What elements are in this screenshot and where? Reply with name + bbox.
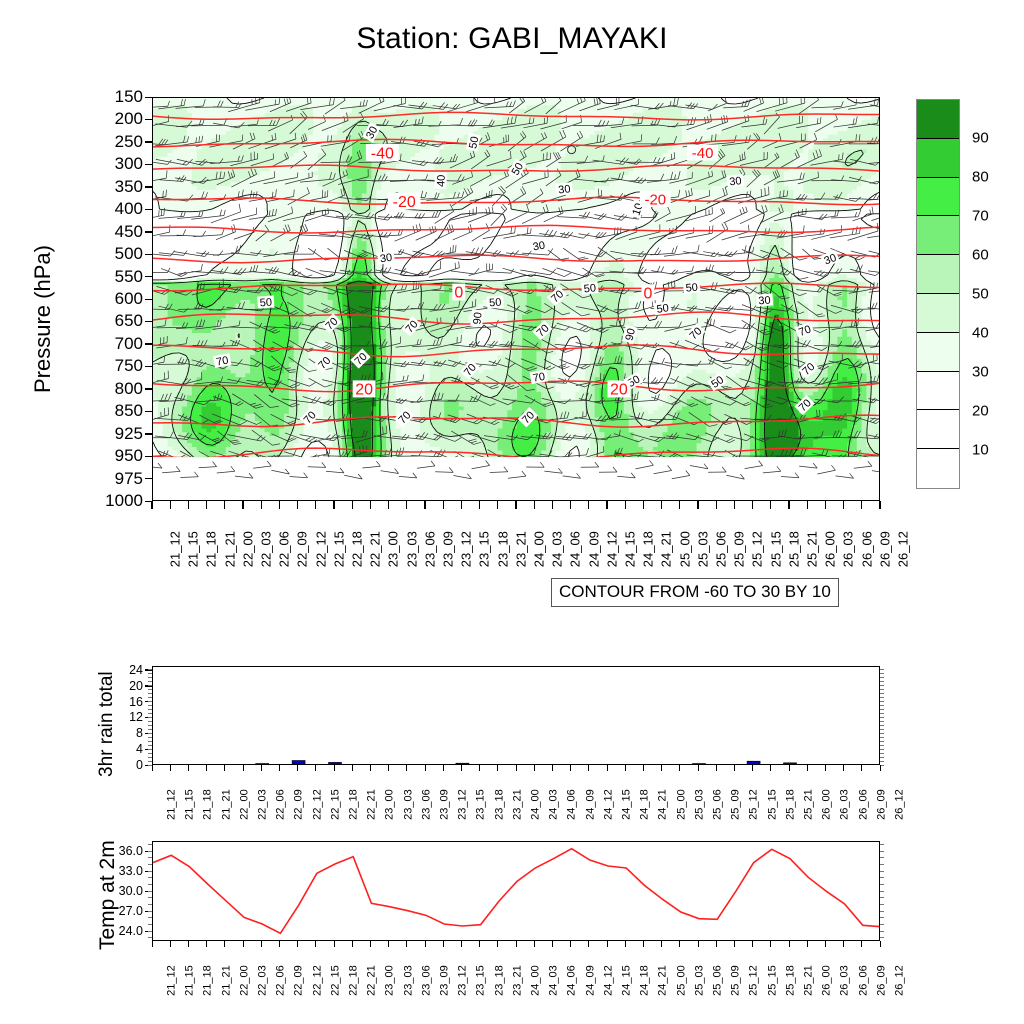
colorbar-tick-label: 30 xyxy=(972,364,989,381)
x-tick-label: 26_12 xyxy=(893,965,905,996)
x-tick xyxy=(807,941,808,947)
x-tick xyxy=(679,941,680,947)
x-tick xyxy=(243,941,244,947)
y-minor-tick xyxy=(148,937,152,938)
y-tick-label: 24.0 xyxy=(83,924,143,938)
profile-plot-area: 3050504030301030303050505050307050707090… xyxy=(153,98,879,500)
x-tick-label: 26_09 xyxy=(875,965,887,996)
x-tick xyxy=(552,765,553,771)
x-tick xyxy=(151,501,152,509)
y-minor-tick xyxy=(148,857,152,858)
x-tick-label: 22_18 xyxy=(347,789,359,820)
y-tick-label: 16 xyxy=(83,695,143,709)
x-tick-label: 23_03 xyxy=(402,789,414,820)
x-tick xyxy=(206,501,207,509)
x-tick-label: 24_21 xyxy=(659,531,674,567)
y-tick-label: 250 xyxy=(53,132,143,152)
x-tick-label: 24_03 xyxy=(547,965,559,996)
y-minor-tick xyxy=(880,897,884,898)
x-tick-label: 23_09 xyxy=(438,965,450,996)
x-tick xyxy=(679,765,680,771)
x-tick xyxy=(261,765,262,771)
x-tick-label: 21_21 xyxy=(222,531,237,567)
y-tick-label: 1000 xyxy=(53,491,143,511)
y-minor-tick xyxy=(880,721,884,722)
x-tick-label: 25_18 xyxy=(784,789,796,820)
x-tick-label: 22_06 xyxy=(274,789,286,820)
x-tick-label: 22_00 xyxy=(238,965,250,996)
x-tick xyxy=(807,765,808,771)
x-tick-label: 25_03 xyxy=(693,789,705,820)
x-tick xyxy=(825,501,826,509)
x-tick-label: 25_09 xyxy=(729,965,741,996)
x-tick xyxy=(880,765,881,771)
x-tick-label: 24_15 xyxy=(620,789,632,820)
x-tick xyxy=(443,941,444,947)
x-tick-label: 26_06 xyxy=(857,789,869,820)
x-tick xyxy=(497,765,498,771)
y-tick-label: 300 xyxy=(53,154,143,174)
x-tick xyxy=(516,765,517,771)
x-tick xyxy=(607,941,608,947)
x-tick-label: 21_15 xyxy=(186,531,201,567)
y-minor-tick xyxy=(148,891,152,892)
y-tick xyxy=(145,164,152,165)
x-tick xyxy=(152,941,153,947)
x-tick xyxy=(425,765,426,771)
x-tick xyxy=(716,941,717,947)
x-tick-label: 24_15 xyxy=(620,965,632,996)
y-minor-tick xyxy=(148,871,152,872)
x-tick xyxy=(734,941,735,947)
x-tick-label: 26_00 xyxy=(820,965,832,996)
x-tick xyxy=(279,941,280,947)
x-tick xyxy=(352,765,353,771)
y-tick xyxy=(145,433,152,434)
x-tick xyxy=(625,765,626,771)
x-tick-label: 22_06 xyxy=(277,531,292,567)
x-tick xyxy=(297,501,298,509)
x-tick xyxy=(643,941,644,947)
x-tick-label: 25_09 xyxy=(732,531,747,567)
x-tick-label: 22_15 xyxy=(329,965,341,996)
x-tick xyxy=(570,765,571,771)
y-tick xyxy=(145,478,152,479)
x-tick xyxy=(788,501,789,509)
x-tick-label: 24_09 xyxy=(584,789,596,820)
colorbar-band xyxy=(917,100,959,139)
y-minor-tick xyxy=(148,701,152,702)
colorbar-tick-label: 60 xyxy=(972,247,989,264)
y-tick xyxy=(145,254,152,255)
y-tick-label: 200 xyxy=(53,109,143,129)
y-minor-tick xyxy=(880,693,884,694)
x-tick-label: 25_15 xyxy=(768,531,783,567)
y-tick-label: 30.0 xyxy=(83,884,143,898)
x-tick xyxy=(825,765,826,771)
x-tick-label: 23_00 xyxy=(384,965,396,996)
y-tick-label: 600 xyxy=(53,289,143,309)
x-tick xyxy=(861,501,862,509)
x-tick-label: 22_03 xyxy=(256,789,268,820)
temp-plot-area xyxy=(153,842,879,940)
x-tick xyxy=(570,941,571,947)
y-tick-label: 20 xyxy=(83,679,143,693)
y-minor-tick xyxy=(880,757,884,758)
x-tick xyxy=(497,941,498,947)
x-tick xyxy=(734,765,735,771)
x-tick xyxy=(534,941,535,947)
x-tick-label: 23_03 xyxy=(404,531,419,567)
x-tick xyxy=(479,501,480,509)
x-tick-label: 22_21 xyxy=(365,965,377,996)
x-tick-label: 26_09 xyxy=(875,789,887,820)
x-tick-label: 22_06 xyxy=(274,965,286,996)
x-tick-label: 25_00 xyxy=(675,789,687,820)
x-tick xyxy=(425,941,426,947)
x-tick xyxy=(352,501,353,509)
y-minor-tick xyxy=(880,904,884,905)
x-tick-label: 23_03 xyxy=(402,965,414,996)
x-tick-label: 26_00 xyxy=(823,531,838,567)
x-tick xyxy=(843,765,844,771)
x-tick-label: 22_12 xyxy=(311,789,323,820)
x-tick xyxy=(334,765,335,771)
x-tick-label: 21_12 xyxy=(165,789,177,820)
x-tick-label: 26_09 xyxy=(877,531,892,567)
colorbar[interactable] xyxy=(916,99,960,489)
x-tick-label: 24_12 xyxy=(602,789,614,820)
y-tick xyxy=(145,141,152,142)
x-tick-label: 23_06 xyxy=(420,965,432,996)
x-tick xyxy=(643,765,644,771)
y-tick-label: 650 xyxy=(53,311,143,331)
x-tick-label: 21_21 xyxy=(220,789,232,820)
y-minor-tick xyxy=(880,697,884,698)
x-tick-label: 22_18 xyxy=(350,531,365,567)
y-minor-tick xyxy=(148,749,152,750)
colorbar-tick-label: 50 xyxy=(972,286,989,303)
colorbar-tick-label: 70 xyxy=(972,208,989,225)
y-minor-tick xyxy=(880,733,884,734)
x-tick xyxy=(315,941,316,947)
x-tick xyxy=(661,941,662,947)
x-tick-label: 24_06 xyxy=(566,789,578,820)
y-tick xyxy=(145,186,152,187)
y-tick-label: 12 xyxy=(83,710,143,724)
y-minor-tick xyxy=(148,733,152,734)
x-tick-label: 21_12 xyxy=(165,965,177,996)
x-tick-label: 22_03 xyxy=(256,965,268,996)
x-tick-label: 26_03 xyxy=(839,965,851,996)
y-tick-label: 700 xyxy=(53,334,143,354)
x-tick xyxy=(588,941,589,947)
y-minor-tick xyxy=(148,741,152,742)
x-tick-label: 25_21 xyxy=(805,531,820,567)
x-tick-label: 22_21 xyxy=(365,789,377,820)
x-tick-label: 23_06 xyxy=(420,789,432,820)
y-minor-tick xyxy=(148,884,152,885)
x-tick-label: 26_06 xyxy=(857,965,869,996)
x-tick-label: 21_15 xyxy=(183,789,195,820)
colorbar-band xyxy=(917,410,959,449)
y-minor-tick xyxy=(148,745,152,746)
x-tick-label: 24_21 xyxy=(657,965,669,996)
x-tick xyxy=(643,501,644,509)
y-minor-tick xyxy=(880,709,884,710)
x-tick xyxy=(716,501,717,509)
page-title: Station: GABI_MAYAKI xyxy=(0,22,1024,56)
y-minor-tick xyxy=(148,725,152,726)
y-tick-label: 950 xyxy=(53,446,143,466)
x-tick-label: 22_12 xyxy=(313,531,328,567)
x-tick xyxy=(697,501,698,509)
y-minor-tick xyxy=(880,717,884,718)
x-tick xyxy=(606,501,607,509)
y-tick xyxy=(145,119,152,120)
x-tick xyxy=(770,941,771,947)
y-minor-tick xyxy=(880,737,884,738)
x-tick xyxy=(497,501,498,509)
y-minor-tick xyxy=(880,725,884,726)
x-tick xyxy=(424,501,425,509)
x-tick-label: 25_03 xyxy=(695,531,710,567)
profile-panel[interactable]: 3050504030301030303050505050307050707090… xyxy=(152,97,880,501)
x-tick xyxy=(752,941,753,947)
x-tick-label: 24_21 xyxy=(657,789,669,820)
x-tick xyxy=(261,941,262,947)
y-minor-tick xyxy=(148,753,152,754)
x-tick-label: 23_18 xyxy=(493,965,505,996)
y-minor-tick xyxy=(148,911,152,912)
x-tick-label: 24_03 xyxy=(547,789,559,820)
y-minor-tick xyxy=(148,717,152,718)
x-tick xyxy=(880,941,881,947)
x-tick xyxy=(625,501,626,509)
x-tick-label: 24_06 xyxy=(566,965,578,996)
x-tick xyxy=(861,941,862,947)
x-tick-label: 24_12 xyxy=(604,531,619,567)
y-minor-tick xyxy=(148,721,152,722)
y-minor-tick xyxy=(148,757,152,758)
x-tick xyxy=(879,501,880,509)
x-tick xyxy=(552,501,553,509)
x-tick xyxy=(170,765,171,771)
x-tick-label: 24_03 xyxy=(550,531,565,567)
x-tick-label: 21_18 xyxy=(202,789,214,820)
x-tick xyxy=(734,501,735,509)
x-tick-label: 25_18 xyxy=(786,531,801,567)
x-tick xyxy=(770,501,771,509)
y-minor-tick xyxy=(880,713,884,714)
x-tick-label: 24_18 xyxy=(638,789,650,820)
y-tick xyxy=(145,388,152,389)
y-minor-tick xyxy=(148,669,152,670)
colorbar-band xyxy=(917,139,959,178)
y-minor-tick xyxy=(148,673,152,674)
y-minor-tick xyxy=(148,685,152,686)
y-minor-tick xyxy=(880,891,884,892)
x-tick-label: 23_12 xyxy=(456,965,468,996)
y-minor-tick xyxy=(880,871,884,872)
x-tick xyxy=(279,501,280,509)
y-minor-tick xyxy=(148,677,152,678)
x-tick-label: 25_03 xyxy=(693,965,705,996)
y-tick xyxy=(145,411,152,412)
x-tick xyxy=(534,501,535,509)
y-tick xyxy=(145,97,152,98)
y-tick-label: 800 xyxy=(53,379,143,399)
x-tick-label: 24_09 xyxy=(586,531,601,567)
x-tick xyxy=(334,941,335,947)
x-tick xyxy=(461,765,462,771)
x-tick xyxy=(479,765,480,771)
y-minor-tick xyxy=(880,745,884,746)
y-minor-tick xyxy=(880,765,884,766)
contour-note: CONTOUR FROM -60 TO 30 BY 10 xyxy=(551,578,839,607)
x-tick-label: 25_15 xyxy=(766,789,778,820)
y-minor-tick xyxy=(148,917,152,918)
x-tick-label: 24_00 xyxy=(529,965,541,996)
y-minor-tick xyxy=(148,705,152,706)
x-tick xyxy=(188,765,189,771)
x-tick xyxy=(224,765,225,771)
x-tick xyxy=(861,765,862,771)
x-tick-label: 25_18 xyxy=(784,965,796,996)
y-minor-tick xyxy=(880,857,884,858)
x-tick xyxy=(188,501,189,509)
y-tick-label: 400 xyxy=(53,199,143,219)
x-tick-label: 25_12 xyxy=(748,965,760,996)
y-tick-label: 150 xyxy=(53,87,143,107)
temp-panel[interactable] xyxy=(152,841,880,941)
x-tick-label: 25_15 xyxy=(766,965,778,996)
colorbar-band xyxy=(917,333,959,372)
x-tick-label: 22_18 xyxy=(347,965,359,996)
x-tick-label: 24_00 xyxy=(532,531,547,567)
y-tick xyxy=(145,231,152,232)
x-tick xyxy=(479,941,480,947)
x-tick xyxy=(261,501,262,509)
colorbar-band xyxy=(917,449,959,488)
x-tick xyxy=(206,765,207,771)
x-tick xyxy=(370,765,371,771)
x-tick xyxy=(333,501,334,509)
x-tick-label: 23_09 xyxy=(438,789,450,820)
y-tick-label: 750 xyxy=(53,356,143,376)
x-tick xyxy=(770,765,771,771)
x-tick-label: 25_06 xyxy=(711,789,723,820)
x-tick-label: 24_09 xyxy=(584,965,596,996)
x-tick xyxy=(297,941,298,947)
y-minor-tick xyxy=(880,681,884,682)
y-tick xyxy=(145,366,152,367)
y-minor-tick xyxy=(880,729,884,730)
x-tick-label: 26_12 xyxy=(893,789,905,820)
y-tick-label: 4 xyxy=(83,742,143,756)
y-minor-tick xyxy=(880,877,884,878)
colorbar-tick-label: 80 xyxy=(972,169,989,186)
x-tick xyxy=(698,765,699,771)
x-tick xyxy=(443,765,444,771)
y-tick-label: 27.0 xyxy=(83,904,143,918)
y-tick-label: 33.0 xyxy=(83,864,143,878)
x-tick xyxy=(406,941,407,947)
y-minor-tick xyxy=(880,844,884,845)
x-tick xyxy=(588,501,589,509)
x-tick-label: 23_18 xyxy=(495,531,510,567)
x-tick xyxy=(352,941,353,947)
y-minor-tick xyxy=(148,904,152,905)
x-tick xyxy=(315,765,316,771)
x-tick xyxy=(679,501,680,509)
y-minor-tick xyxy=(148,924,152,925)
x-tick xyxy=(443,501,444,509)
y-minor-tick xyxy=(148,713,152,714)
x-tick-label: 25_12 xyxy=(750,531,765,567)
x-tick xyxy=(515,501,516,509)
colorbar-band xyxy=(917,255,959,294)
x-tick-label: 22_00 xyxy=(240,531,255,567)
y-minor-tick xyxy=(880,753,884,754)
rain-panel[interactable] xyxy=(152,666,880,765)
y-minor-tick xyxy=(880,911,884,912)
x-tick-label: 26_03 xyxy=(839,789,851,820)
y-minor-tick xyxy=(880,851,884,852)
x-tick-label: 21_15 xyxy=(183,965,195,996)
x-tick xyxy=(279,765,280,771)
y-minor-tick xyxy=(148,681,152,682)
x-tick-label: 25_21 xyxy=(802,789,814,820)
y-tick-label: 36.0 xyxy=(83,844,143,858)
x-tick-label: 23_21 xyxy=(511,789,523,820)
y-minor-tick xyxy=(148,897,152,898)
y-minor-tick xyxy=(148,844,152,845)
x-tick-label: 21_21 xyxy=(220,965,232,996)
x-tick-label: 25_00 xyxy=(675,965,687,996)
x-tick-label: 23_09 xyxy=(441,531,456,567)
x-tick-label: 24_06 xyxy=(568,531,583,567)
x-tick-label: 23_18 xyxy=(493,789,505,820)
x-tick xyxy=(406,501,407,509)
x-tick-label: 23_00 xyxy=(386,531,401,567)
x-tick-label: 25_12 xyxy=(748,789,760,820)
x-tick xyxy=(552,941,553,947)
y-minor-tick xyxy=(880,705,884,706)
y-minor-tick xyxy=(880,749,884,750)
colorbar-band xyxy=(917,372,959,411)
x-tick xyxy=(807,501,808,509)
x-tick xyxy=(661,501,662,509)
x-tick xyxy=(825,941,826,947)
x-tick-label: 22_12 xyxy=(311,965,323,996)
y-minor-tick xyxy=(880,884,884,885)
x-tick-label: 22_00 xyxy=(238,789,250,820)
x-tick-label: 23_15 xyxy=(477,531,492,567)
y-tick-label: 0 xyxy=(83,758,143,772)
y-tick xyxy=(145,209,152,210)
x-tick xyxy=(752,501,753,509)
x-tick xyxy=(188,941,189,947)
x-tick xyxy=(789,765,790,771)
x-tick-label: 26_00 xyxy=(820,789,832,820)
y-minor-tick xyxy=(148,737,152,738)
y-tick xyxy=(145,276,152,277)
y-minor-tick xyxy=(148,697,152,698)
x-tick-label: 23_15 xyxy=(475,789,487,820)
x-tick-label: 22_21 xyxy=(368,531,383,567)
y-minor-tick xyxy=(148,931,152,932)
